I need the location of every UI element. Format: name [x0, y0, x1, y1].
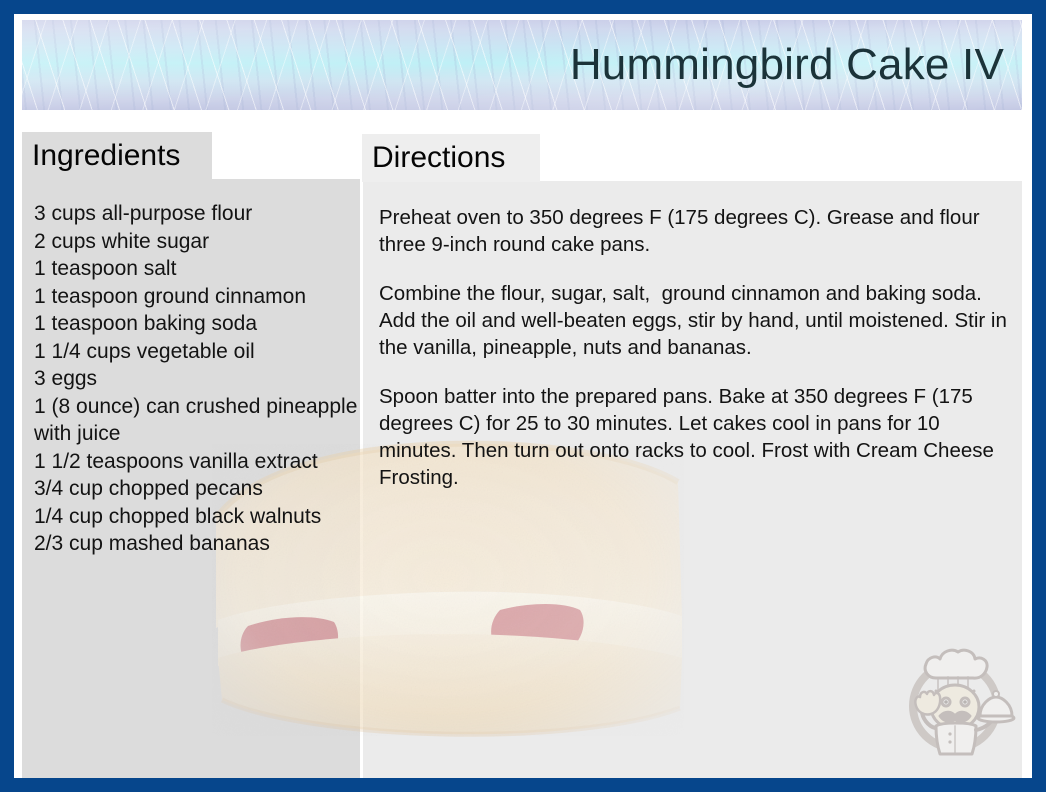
list-item: 1 teaspoon baking soda	[34, 310, 370, 338]
directions-paragraph: Preheat oven to 350 degrees F (175 degre…	[379, 204, 1014, 258]
list-item: 1 teaspoon salt	[34, 255, 370, 283]
ingredients-list: 3 cups all-purpose flour 2 cups white su…	[34, 200, 370, 558]
list-item: 2/3 cup mashed bananas	[34, 530, 370, 558]
directions-paragraph: Spoon batter into the prepared pans. Bak…	[379, 383, 1014, 491]
list-item: 1 (8 ounce) can crushed pineapple with j…	[34, 393, 370, 448]
directions-body: Preheat oven to 350 degrees F (175 degre…	[379, 204, 1014, 491]
list-item: 1 1/4 cups vegetable oil	[34, 338, 370, 366]
directions-heading-label: Directions	[372, 141, 505, 175]
list-item: 3 cups all-purpose flour	[34, 200, 370, 228]
list-item: 2 cups white sugar	[34, 228, 370, 256]
ingredients-heading-label: Ingredients	[32, 139, 180, 173]
directions-heading: Directions	[362, 134, 540, 182]
list-item: 1 teaspoon ground cinnamon	[34, 283, 370, 311]
directions-paragraph: Combine the flour, sugar, salt, ground c…	[379, 280, 1014, 361]
list-item: 1 1/2 teaspoons vanilla extract	[34, 448, 370, 476]
list-item: 3 eggs	[34, 365, 370, 393]
header-banner: Hummingbird Cake IV	[22, 20, 1022, 110]
ingredients-heading: Ingredients	[22, 132, 212, 180]
recipe-slide: Hummingbird Cake IV	[0, 0, 1046, 792]
list-item: 3/4 cup chopped pecans	[34, 475, 370, 503]
list-item: 1/4 cup chopped black walnuts	[34, 503, 370, 531]
page-title: Hummingbird Cake IV	[570, 40, 1004, 90]
